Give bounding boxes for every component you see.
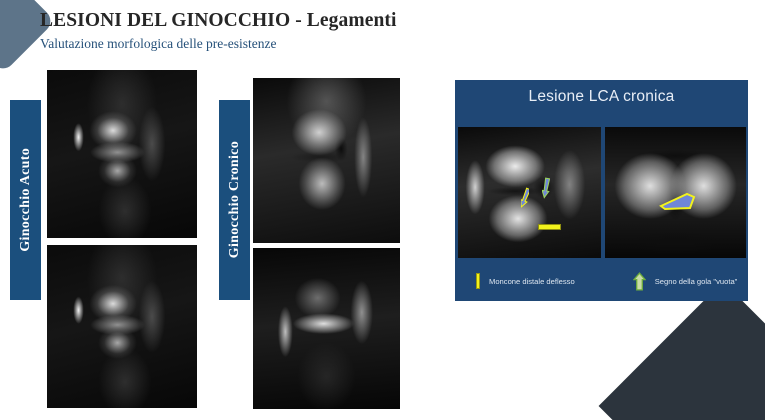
mri-chronic-sagittal-superior [253, 78, 400, 243]
page-subtitle: Valutazione morfologica delle pre-esiste… [40, 36, 460, 52]
mri-acute-sagittal-inferior [47, 245, 197, 408]
yellow-outline-marker-annotation [657, 190, 697, 212]
lca-panel-title: Lesione LCA cronica [455, 88, 748, 106]
column-label-ginocchio-acuto: Ginocchio Acuto [10, 100, 41, 300]
mri-tissue-layer [458, 127, 601, 258]
mri-tissue-layer [253, 78, 400, 243]
slide-header: LESIONI DEL GINOCCHIO - Legamenti Valuta… [40, 10, 460, 52]
lca-panel-legend: Moncone distale deflesso Segno della gol… [455, 265, 748, 297]
mri-tissue-layer [47, 70, 197, 238]
yellow-bar-icon [476, 273, 480, 289]
mri-tissue-layer [253, 248, 400, 409]
green-arrow-annotation [542, 174, 550, 200]
column-label-acuto-text: Ginocchio Acuto [18, 148, 34, 252]
mri-chronic-sagittal-inferior [253, 248, 400, 409]
legend-label-gola-vuota: Segno della gola "vuota" [655, 277, 738, 286]
yellow-bar-annotation [538, 224, 561, 230]
lca-panel: Lesione LCA cronica M [455, 80, 748, 301]
mri-acute-sagittal-superior [47, 70, 197, 238]
page-title: LESIONI DEL GINOCCHIO - Legamenti [40, 10, 460, 32]
legend-item-gola-vuota: Segno della gola "vuota" [633, 272, 738, 291]
bottom-right-dark-decoration-shape [599, 282, 765, 420]
yellow-arrow-annotation [521, 184, 529, 210]
green-up-arrow-icon [633, 272, 646, 291]
legend-item-moncone: Moncone distale deflesso [476, 273, 575, 289]
legend-label-moncone: Moncone distale deflesso [489, 277, 575, 286]
column-label-ginocchio-cronico: Ginocchio Cronico [219, 100, 250, 300]
column-label-cronico-text: Ginocchio Cronico [227, 141, 243, 258]
mri-lca-coronal [605, 127, 746, 258]
mri-lca-sagittal [458, 127, 601, 258]
mri-tissue-layer [47, 245, 197, 408]
slide-canvas: LESIONI DEL GINOCCHIO - Legamenti Valuta… [0, 0, 765, 420]
